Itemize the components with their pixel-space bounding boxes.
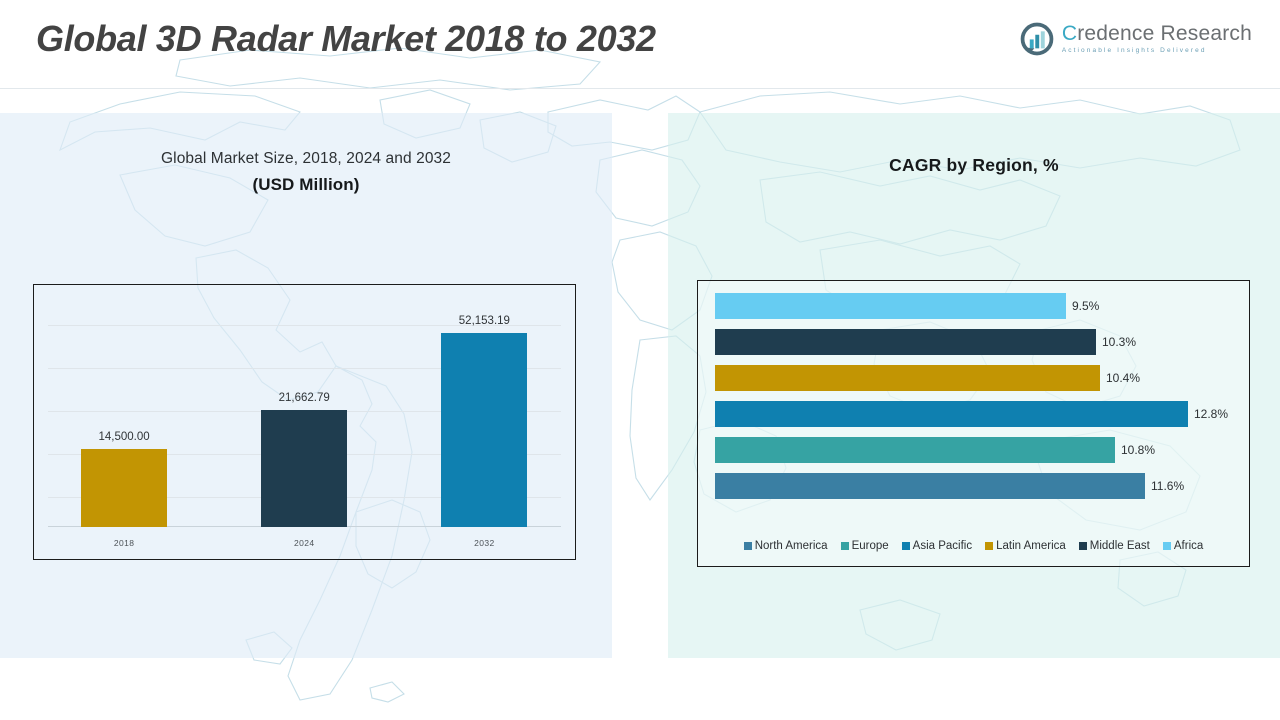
- bar-middle-east: [715, 329, 1096, 355]
- brand-logo: Credence Research Actionable Insights De…: [1020, 22, 1252, 56]
- cagr-row-africa: 9.5%: [715, 293, 1239, 319]
- cagr-row-asia-pacific: 12.8%: [715, 401, 1239, 427]
- legend-label: Middle East: [1090, 540, 1150, 552]
- bar-value-label: 52,153.19: [459, 315, 510, 327]
- bar-africa: [715, 293, 1066, 319]
- x-tick-2018: 2018: [34, 538, 214, 548]
- legend-label: Latin America: [996, 540, 1066, 552]
- bar-group-2032: 52,153.19: [394, 315, 574, 527]
- cagr-row-middle-east: 10.3%: [715, 329, 1239, 355]
- legend-label: Europe: [852, 540, 889, 552]
- legend-item-latin-america[interactable]: Latin America: [985, 540, 1066, 552]
- legend-swatch-icon: [744, 542, 752, 550]
- header-divider: [0, 88, 1280, 89]
- bar-value-label: 9.5%: [1072, 299, 1099, 313]
- bar-2024: [261, 410, 347, 527]
- bar-value-label: 10.8%: [1121, 443, 1155, 457]
- bar-2032: [441, 333, 527, 527]
- page-title: Global 3D Radar Market 2018 to 2032: [36, 18, 656, 60]
- legend-item-africa[interactable]: Africa: [1163, 540, 1203, 552]
- legend-item-north-america[interactable]: North America: [744, 540, 828, 552]
- bar-2018: [81, 449, 167, 527]
- bar-europe: [715, 437, 1115, 463]
- header-bar: Global 3D Radar Market 2018 to 2032 Cred…: [0, 0, 1280, 88]
- bar-asia-pacific: [715, 401, 1188, 427]
- global-market-size-chart: 14,500.00 21,662.79 52,153.19 2018 2024 …: [33, 284, 576, 560]
- legend-swatch-icon: [1163, 542, 1171, 550]
- cagr-row-europe: 10.8%: [715, 437, 1239, 463]
- brand-name: Credence Research: [1062, 23, 1252, 44]
- cagr-legend: North America Europe Asia Pacific Latin …: [698, 540, 1249, 552]
- brand-tagline: Actionable Insights Delivered: [1062, 48, 1252, 55]
- legend-item-asia-pacific[interactable]: Asia Pacific: [902, 540, 972, 552]
- right-chart-title: CAGR by Region, %: [668, 155, 1280, 176]
- bar-chart-circle-logo-icon: [1020, 22, 1054, 56]
- legend-swatch-icon: [1079, 542, 1087, 550]
- legend-item-europe[interactable]: Europe: [841, 540, 889, 552]
- legend-swatch-icon: [902, 542, 910, 550]
- bar-value-label: 10.3%: [1102, 335, 1136, 349]
- left-chart-subtitle: (USD Million): [0, 175, 612, 195]
- x-tick-2024: 2024: [214, 538, 394, 548]
- legend-label: Africa: [1174, 540, 1203, 552]
- bar-value-label: 12.8%: [1194, 407, 1228, 421]
- left-chart-title-line1: Global Market Size, 2018, 2024 and 2032: [0, 150, 612, 168]
- bar-group-2018: 14,500.00: [34, 315, 214, 527]
- left-chart-plot-area: 14,500.00 21,662.79 52,153.19 2018 2024 …: [34, 285, 575, 559]
- cagr-by-region-chart: 9.5% 10.3% 10.4% 12.8% 10.8% 11.6% North…: [697, 280, 1250, 567]
- brand-logo-text: Credence Research Actionable Insights De…: [1062, 23, 1252, 55]
- cagr-bars-area: 9.5% 10.3% 10.4% 12.8% 10.8% 11.6%: [715, 293, 1239, 505]
- cagr-row-north-america: 11.6%: [715, 473, 1239, 499]
- bar-group-2024: 21,662.79: [214, 315, 394, 527]
- x-tick-2032: 2032: [394, 538, 574, 548]
- legend-swatch-icon: [985, 542, 993, 550]
- bar-value-label: 14,500.00: [98, 431, 149, 443]
- legend-label: Asia Pacific: [913, 540, 972, 552]
- bar-value-label: 10.4%: [1106, 371, 1140, 385]
- bar-north-america: [715, 473, 1145, 499]
- legend-swatch-icon: [841, 542, 849, 550]
- bar-value-label: 21,662.79: [279, 392, 330, 404]
- bar-value-label: 11.6%: [1151, 479, 1184, 493]
- bar-latin-america: [715, 365, 1100, 391]
- left-chart-title: Global Market Size, 2018, 2024 and 2032 …: [0, 150, 612, 195]
- brand-name-rest: redence Research: [1077, 22, 1252, 45]
- legend-label: North America: [755, 540, 828, 552]
- cagr-row-latin-america: 10.4%: [715, 365, 1239, 391]
- legend-item-middle-east[interactable]: Middle East: [1079, 540, 1150, 552]
